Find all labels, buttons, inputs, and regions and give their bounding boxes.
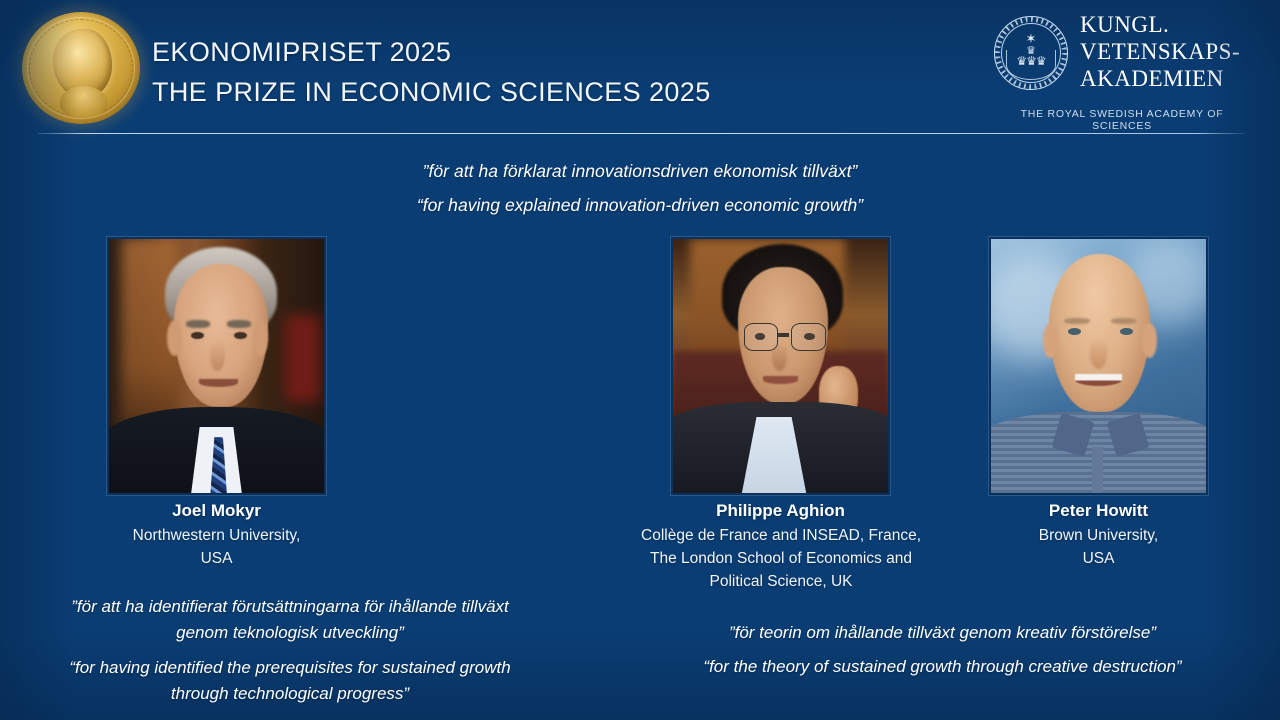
portrait-shirt-placket (1092, 447, 1103, 493)
affiliation-line-2: USA (989, 548, 1208, 571)
portrait-eye-right (234, 332, 247, 340)
title-english: THE PRIZE IN ECONOMIC SCIENCES 2025 (152, 73, 711, 113)
portrait-eye-left (191, 332, 204, 340)
nobel-medal-icon (22, 12, 140, 124)
portrait-eyeglass-bridge (778, 333, 789, 337)
affiliation-line-2: The London School of Economics and (561, 548, 1001, 571)
portrait-ear-left (1043, 323, 1058, 359)
page-title: EKONOMIPRISET 2025 THE PRIZE IN ECONOMIC… (152, 33, 711, 113)
academy-line-2: VETENSKAPS- (1080, 39, 1240, 66)
portrait-mouth (763, 376, 797, 384)
header-divider (38, 133, 1245, 134)
academy-line-3: AKADEMIEN (1080, 66, 1240, 93)
portrait-eyeglass-right (791, 323, 825, 351)
laureate-affiliation: Brown University, USA (989, 525, 1208, 571)
academy-line-1: KUNGL. (1080, 12, 1240, 39)
photo-credit: Photo: Peter Mosimann. (107, 395, 110, 491)
academy-subtitle: THE ROYAL SWEDISH ACADEMY OF SCIENCES (994, 108, 1250, 132)
portrait-nose (1090, 338, 1107, 368)
motivation-english: “for having explained innovation-driven … (0, 188, 1280, 222)
citation-left-en-line-1: “for having identified the prerequisites… (0, 655, 580, 681)
citation-spacer (0, 647, 580, 655)
citation-right: ”för teorin om ihållande tillväxt genom … (620, 620, 1265, 681)
affiliation-line-3: Political Science, UK (561, 571, 1001, 594)
laureate-portrait-photo (109, 239, 324, 493)
shared-motivation: ”för att ha förklarat innovationsdriven … (0, 154, 1280, 222)
portrait-nose (772, 343, 787, 371)
motivation-swedish: ”för att ha förklarat innovationsdriven … (0, 154, 1280, 188)
portrait-ear-right (1142, 323, 1157, 359)
prize-announcement-slide: EKONOMIPRISET 2025 THE PRIZE IN ECONOMIC… (0, 0, 1280, 720)
academy-logo: ✶ ♛ ♛♛♛ KUNGL. VETENSKAPS- AKADEMIEN THE… (994, 12, 1250, 128)
seal-star-icon: ✶ (1026, 32, 1037, 45)
laureate-name: Joel Mokyr (107, 501, 326, 521)
citation-left: ”för att ha identifierat förutsättningar… (0, 594, 580, 707)
laureate-portrait-photo (673, 239, 888, 493)
royal-academy-seal-icon: ✶ ♛ ♛♛♛ (994, 16, 1068, 90)
laureate-photo-frame: Photo: Peter Mosimann. (107, 237, 326, 495)
title-swedish: EKONOMIPRISET 2025 (152, 33, 711, 73)
medal-collar-relief (60, 86, 107, 117)
portrait-eyebrow-right (227, 320, 251, 328)
citation-left-sv-line-2: genom teknologisk utveckling” (0, 620, 580, 646)
portrait-eye-right (1120, 328, 1133, 335)
portrait-nose (210, 341, 225, 371)
portrait-ear-right (253, 320, 268, 356)
laureate-portrait-photo (991, 239, 1206, 493)
citation-right-en-line-1: “for the theory of sustained growth thro… (620, 654, 1265, 680)
portrait-eyebrow-right (1111, 318, 1137, 325)
laureate-affiliation: Collège de France and INSEAD, France, Th… (561, 525, 1001, 594)
affiliation-line-1: Brown University, (989, 525, 1208, 548)
affiliation-line-1: Northwestern University, (107, 525, 326, 548)
portrait-backdrop-accent (285, 315, 319, 401)
slide-header: EKONOMIPRISET 2025 THE PRIZE IN ECONOMIC… (0, 0, 1280, 136)
portrait-eyebrow-left (186, 320, 210, 328)
academy-wordmark: KUNGL. VETENSKAPS- AKADEMIEN (1080, 12, 1240, 93)
seal-three-crowns-icon: ♛♛♛ (1016, 55, 1045, 67)
laureate-name: Peter Howitt (989, 501, 1208, 521)
portrait-ear-left (167, 320, 182, 356)
laureate-photo-frame (989, 237, 1208, 495)
affiliation-line-1: Collège de France and INSEAD, France, (561, 525, 1001, 548)
laureate-affiliation: Northwestern University, USA (107, 525, 326, 571)
affiliation-line-2: USA (107, 548, 326, 571)
laureate-name: Philippe Aghion (671, 501, 890, 521)
citation-spacer (620, 646, 1265, 654)
portrait-eyebrow-left (1064, 318, 1090, 325)
citation-left-en-line-2: through technological progress” (0, 681, 580, 707)
laureate-photo-frame (671, 237, 890, 495)
citation-left-sv-line-1: ”för att ha identifierat förutsättningar… (0, 594, 580, 620)
citation-right-sv-line-1: ”för teorin om ihållande tillväxt genom … (620, 620, 1265, 646)
portrait-face (1049, 254, 1150, 411)
